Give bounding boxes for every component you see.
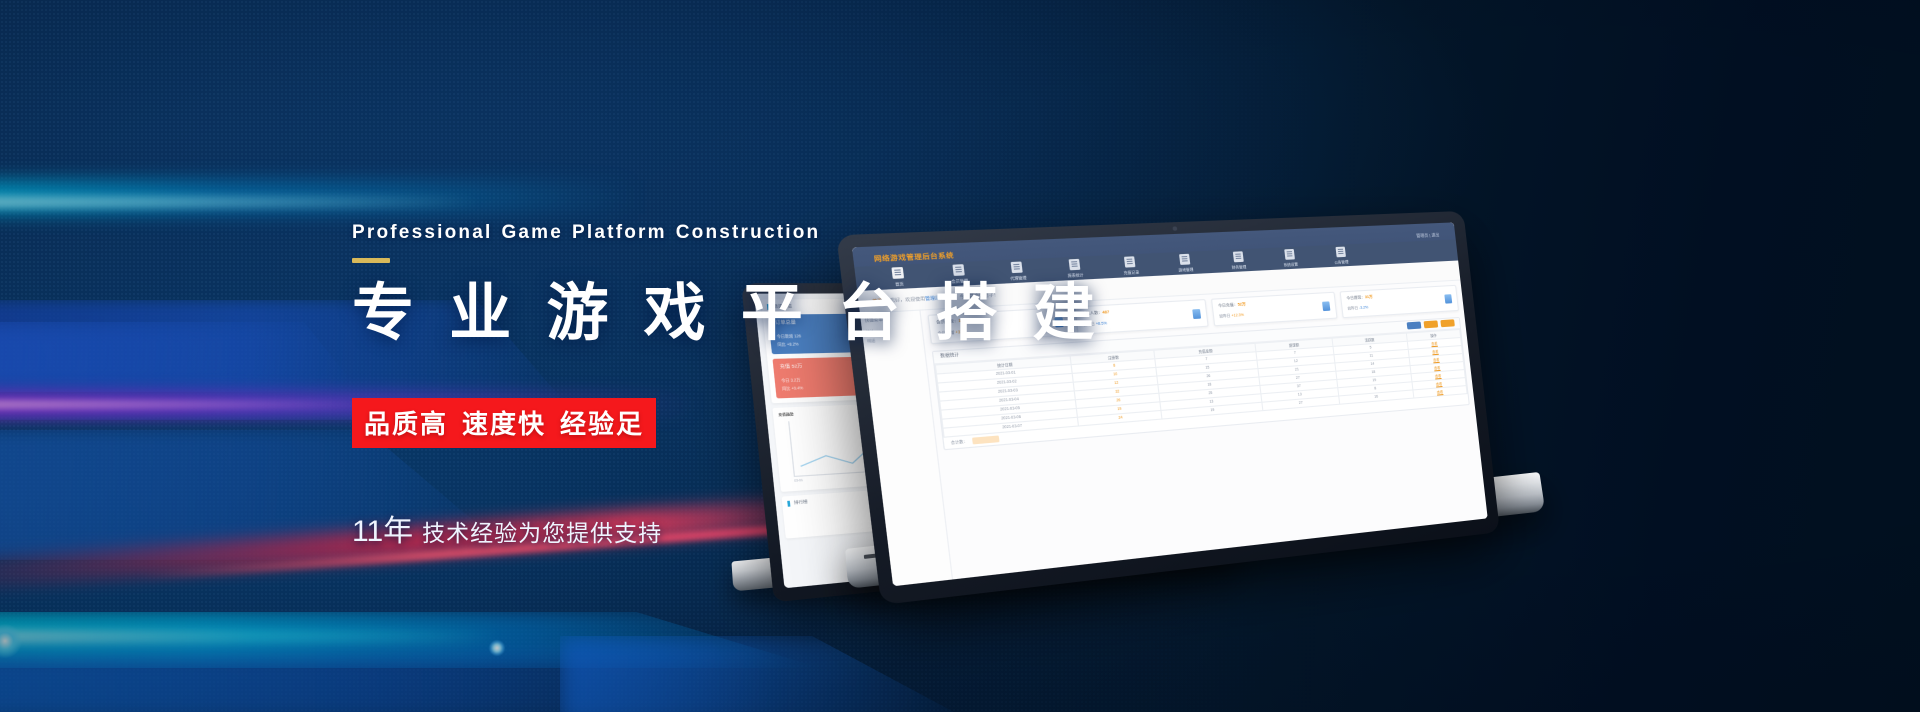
- refresh-button[interactable]: [1440, 320, 1455, 328]
- toolbar-label: 财务管理: [1231, 264, 1246, 270]
- webcam-icon: [1172, 226, 1177, 230]
- stat-card-icon: [1322, 301, 1330, 311]
- blue-bottom-streak: [0, 652, 780, 712]
- cyan-light-streak-top: [0, 180, 640, 214]
- tagline-badge: 品质高速度快经验足: [352, 398, 656, 448]
- stat-sub-label: 较昨日: [1347, 306, 1358, 311]
- tagline-part: 经验足: [560, 409, 644, 439]
- blue-parallelogram-streak-inner: [0, 322, 360, 392]
- stat-value: 52万: [1237, 302, 1246, 307]
- eyebrow-word: Construction: [676, 222, 821, 244]
- toolbar-label: 系统设置: [1283, 262, 1298, 268]
- export-button[interactable]: [1424, 321, 1439, 329]
- gold-rule-divider: [352, 258, 390, 263]
- tagline-part: 速度快: [462, 409, 546, 439]
- stat-sub-value: -3.2%: [1359, 305, 1369, 310]
- user-info[interactable]: 管理员 | 退出: [1416, 232, 1440, 239]
- stat-card-icon: [1192, 309, 1201, 319]
- banner-copy: ProfessionalGamePlatformConstruction 专 业…: [352, 222, 1132, 550]
- eyebrow-word: Platform: [572, 222, 667, 244]
- query-button[interactable]: [1407, 322, 1422, 330]
- stat-label-text: 今日提现：: [1346, 295, 1365, 300]
- stat-card[interactable]: 今日提现：31万 较昨日 -3.2%: [1339, 285, 1459, 318]
- glow-particle-icon: [489, 640, 505, 656]
- experience-text: 技术经验为您提供支持: [422, 520, 662, 546]
- notice-icon: [1335, 247, 1345, 258]
- stat-card[interactable]: 今日充值：52万 较昨日 +12.3%: [1211, 291, 1338, 326]
- cyan-bottom-streak: [0, 612, 820, 668]
- stat-value: 31万: [1365, 294, 1373, 299]
- experience-years: 11年: [352, 515, 413, 548]
- tagline-part: 品质高: [364, 409, 448, 439]
- stat-sub-value: +12.3%: [1231, 312, 1244, 317]
- stat-card-sub: 较昨日 -3.2%: [1347, 299, 1452, 310]
- cyan-bottom-core: [0, 630, 500, 644]
- stat-card-icon: [1444, 294, 1452, 303]
- settings-icon: [1284, 249, 1295, 260]
- stat-label-text: 今日充值：: [1218, 302, 1238, 307]
- hero-banner: ProfessionalGamePlatformConstruction 专 业…: [0, 0, 1920, 712]
- stat-sub-label: 较昨日: [1219, 313, 1231, 318]
- toolbar-label: 游戏管理: [1178, 267, 1194, 273]
- banner-eyebrow: ProfessionalGamePlatformConstruction: [352, 222, 1132, 244]
- finance-icon: [1232, 252, 1243, 263]
- page-title: 专 业 游 戏 平 台 搭 建: [352, 279, 1132, 348]
- purple-light-core: [0, 400, 370, 409]
- cyan-light-core-top: [0, 196, 480, 208]
- table-action-buttons: [1407, 320, 1455, 330]
- toolbar-item-finance[interactable]: 财务管理: [1218, 251, 1258, 271]
- toolbar-item-games[interactable]: 游戏管理: [1164, 253, 1205, 273]
- eyebrow-word: Professional: [352, 222, 492, 244]
- eyebrow-word: Game: [501, 222, 563, 244]
- blue-bottom-streak-right: [560, 636, 980, 712]
- stat-card-sub: 较昨日 +12.3%: [1219, 306, 1330, 318]
- toolbar-item-settings[interactable]: 系统设置: [1270, 249, 1309, 269]
- toolbar-label: 公告管理: [1334, 259, 1349, 265]
- experience-line: 11年技术经验为您提供支持: [352, 506, 1132, 550]
- game-icon: [1179, 254, 1190, 265]
- toolbar-item-notices[interactable]: 公告管理: [1321, 246, 1360, 265]
- glow-particle-left-icon: [0, 624, 22, 658]
